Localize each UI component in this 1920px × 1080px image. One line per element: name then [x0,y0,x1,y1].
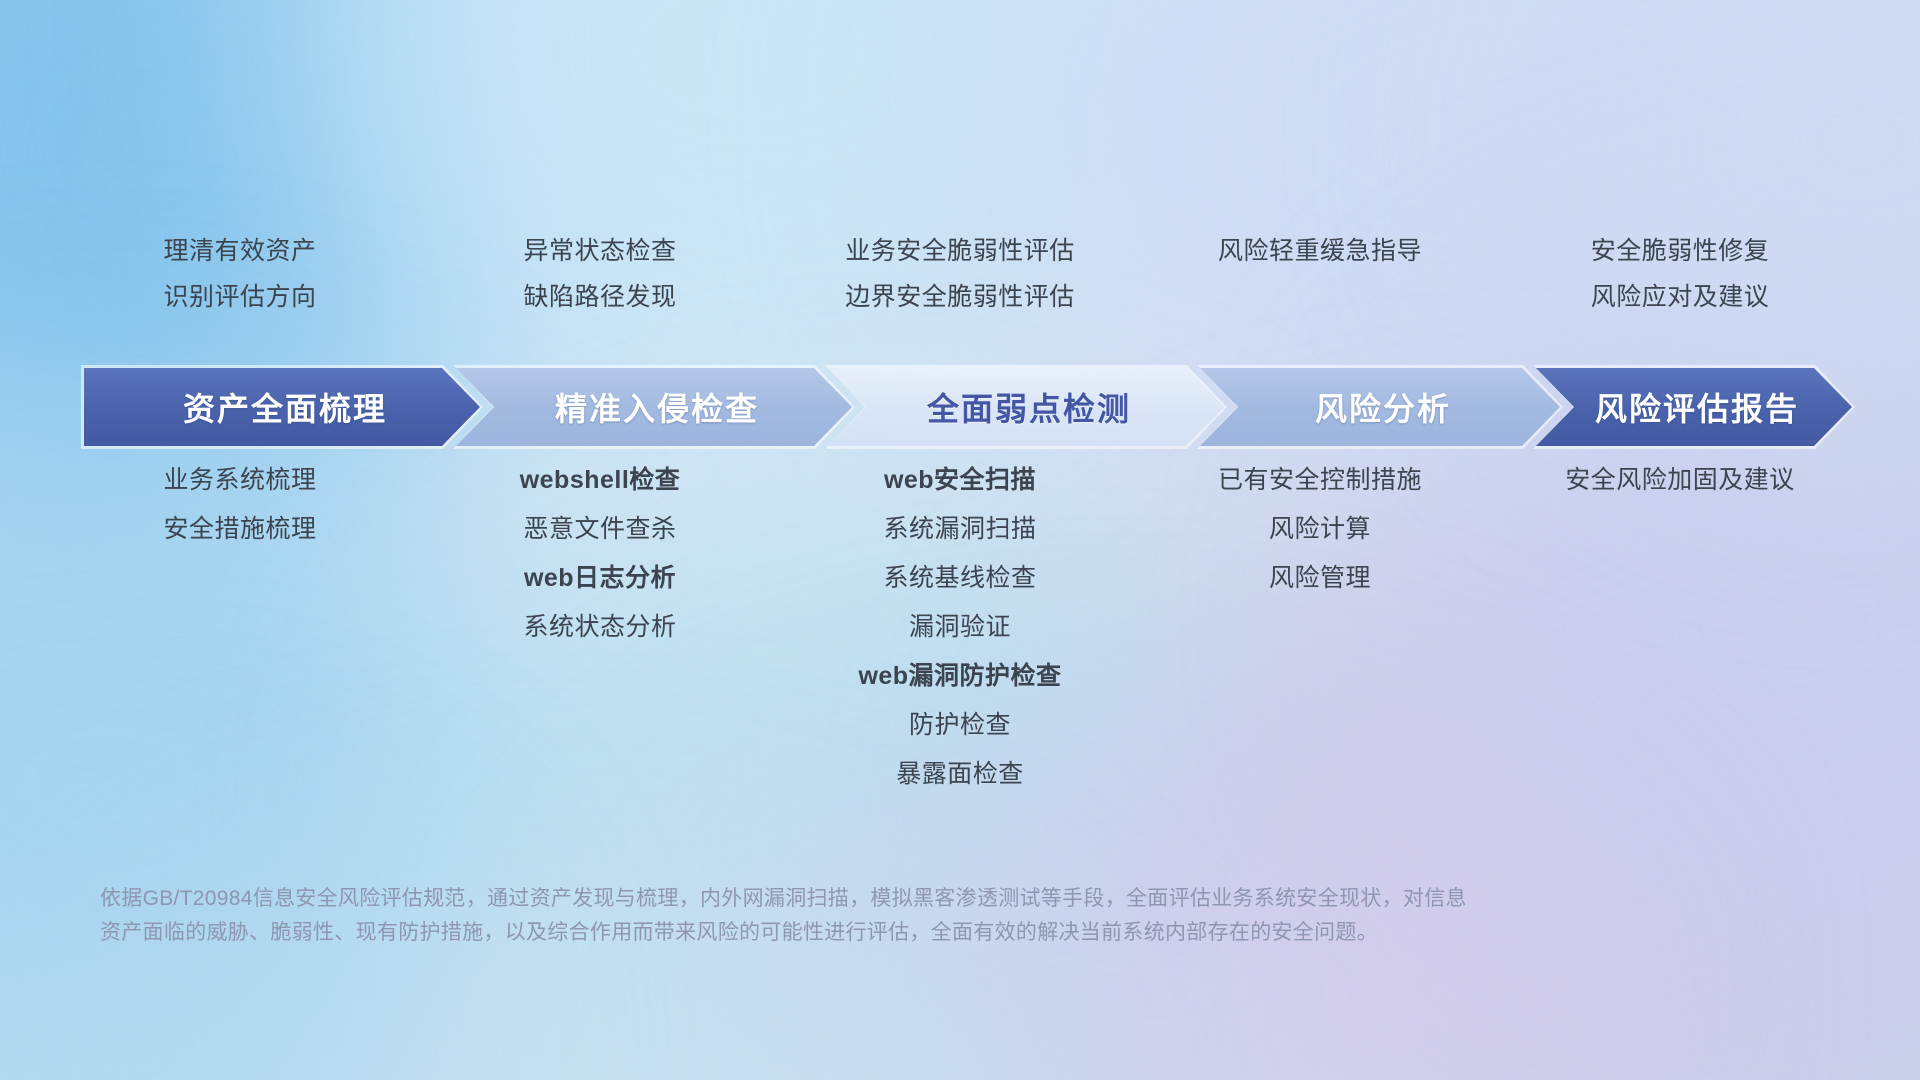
list-item: 系统状态分析 [420,602,780,651]
stage-arrow-label: 风险评估报告 [1589,384,1799,430]
footer-description: 依据GB/T20984信息安全风险评估规范，通过资产发现与梳理，内外网漏洞扫描，… [100,882,1680,950]
list-item: 恶意文件查杀 [420,504,780,553]
top-note: 边界安全脆弱性评估 [780,274,1140,320]
top-notes-stage-1: 理清有效资产 识别评估方向 [60,228,420,320]
list-item: webshell检查 [420,455,780,504]
top-note: 业务安全脆弱性评估 [780,228,1140,274]
list-item: 业务系统梳理 [60,455,420,504]
list-item: web日志分析 [420,553,780,602]
bottom-list-stage-5: 安全风险加固及建议 [1500,455,1860,504]
top-note: 风险应对及建议 [1500,274,1860,320]
stage-arrow-label: 风险分析 [1309,384,1451,430]
stage-arrow-5[interactable]: 风险评估报告 [1536,368,1852,446]
list-item: 系统漏洞扫描 [780,504,1140,553]
list-item: web漏洞防护检查 [780,651,1140,700]
top-note: 风险轻重缓急指导 [1140,228,1500,274]
bottom-list-stage-3: web安全扫描 系统漏洞扫描 系统基线检查 漏洞验证 web漏洞防护检查 防护检… [780,455,1140,798]
stage-arrow-label: 精准入侵检查 [549,384,759,430]
list-item: 已有安全控制措施 [1140,455,1500,504]
list-item: 安全措施梳理 [60,504,420,553]
top-notes-stage-5: 安全脆弱性修复 风险应对及建议 [1500,228,1860,320]
bottom-list-stage-2: webshell检查 恶意文件查杀 web日志分析 系统状态分析 [420,455,780,651]
slide-canvas: 理清有效资产 识别评估方向 异常状态检查 缺陷路径发现 业务安全脆弱性评估 边界… [0,0,1920,1080]
stage-arrow-1[interactable]: 资产全面梳理 [84,368,480,446]
stage-arrow-4[interactable]: 风险分析 [1200,368,1560,446]
list-item: 暴露面检查 [780,749,1140,798]
top-note: 理清有效资产 [60,228,420,274]
stage-arrow-label: 资产全面梳理 [177,384,387,430]
stage-arrow-2[interactable]: 精准入侵检查 [456,368,852,446]
bottom-lists-row: 业务系统梳理 安全措施梳理 webshell检查 恶意文件查杀 web日志分析 … [60,455,1860,798]
top-note: 识别评估方向 [60,274,420,320]
top-notes-row: 理清有效资产 识别评估方向 异常状态检查 缺陷路径发现 业务安全脆弱性评估 边界… [60,228,1860,320]
list-item: 风险管理 [1140,553,1500,602]
bottom-list-stage-1: 业务系统梳理 安全措施梳理 [60,455,420,553]
top-notes-stage-3: 业务安全脆弱性评估 边界安全脆弱性评估 [780,228,1140,320]
process-arrow-band: 资产全面梳理 精准入侵检查 全面弱点检测 风险分析 风险评估报告 [84,368,1852,446]
top-note: 异常状态检查 [420,228,780,274]
top-note: 安全脆弱性修复 [1500,228,1860,274]
top-notes-stage-4: 风险轻重缓急指导 [1140,228,1500,320]
top-note: 缺陷路径发现 [420,274,780,320]
list-item: web安全扫描 [780,455,1140,504]
footer-line-1: 依据GB/T20984信息安全风险评估规范，通过资产发现与梳理，内外网漏洞扫描，… [100,882,1680,916]
footer-line-2: 资产面临的威胁、脆弱性、现有防护措施，以及综合作用而带来风险的可能性进行评估，全… [100,916,1680,950]
stage-arrow-label: 全面弱点检测 [921,384,1131,430]
list-item: 安全风险加固及建议 [1500,455,1860,504]
top-notes-stage-2: 异常状态检查 缺陷路径发现 [420,228,780,320]
list-item: 漏洞验证 [780,602,1140,651]
bottom-list-stage-4: 已有安全控制措施 风险计算 风险管理 [1140,455,1500,602]
list-item: 风险计算 [1140,504,1500,553]
stage-arrow-3[interactable]: 全面弱点检测 [828,368,1224,446]
list-item: 系统基线检查 [780,553,1140,602]
list-item: 防护检查 [780,700,1140,749]
